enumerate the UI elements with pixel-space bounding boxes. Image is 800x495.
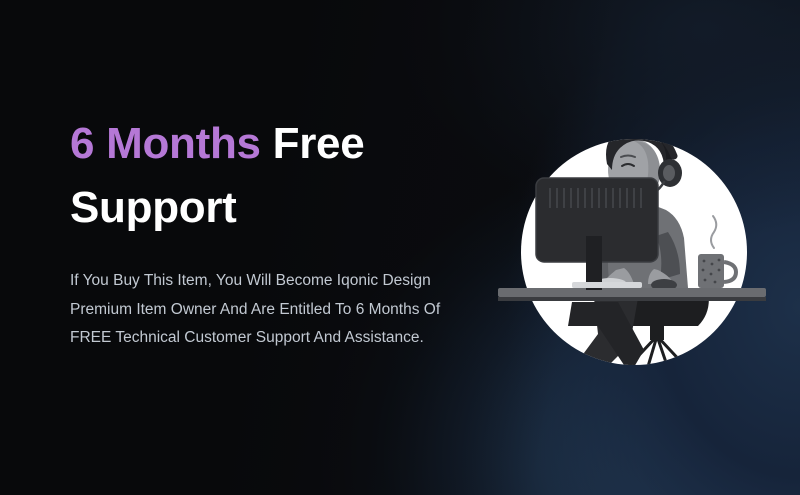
hero-content: 6 Months Free Support If You Buy This It… (70, 112, 490, 353)
promo-banner: 6 Months Free Support If You Buy This It… (0, 0, 800, 495)
keyboard-icon (572, 282, 642, 288)
desk-surface (498, 288, 766, 297)
hero-description: If You Buy This Item, You Will Become Iq… (70, 240, 475, 353)
headline-accent: 6 Months (70, 119, 261, 168)
support-agent-illustration (498, 112, 766, 380)
page-title: 6 Months Free Support (70, 112, 490, 240)
